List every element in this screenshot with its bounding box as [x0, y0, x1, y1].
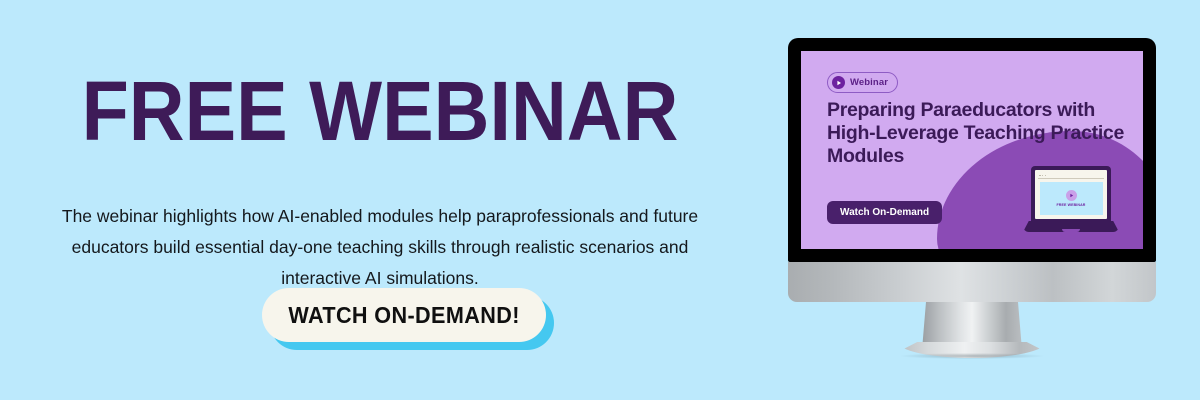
monitor-bezel: Webinar Preparing Paraeducators with Hig… [788, 38, 1156, 262]
page-title: FREE WEBINAR [30, 68, 729, 154]
watch-on-demand-button[interactable]: WATCH ON-DEMAND! [262, 288, 546, 342]
cta-container: WATCH ON-DEMAND! [262, 288, 554, 350]
play-circle-icon [832, 76, 845, 89]
desktop-monitor-illustration: Webinar Preparing Paraeducators with Hig… [788, 38, 1156, 358]
monitor-screen: Webinar Preparing Paraeducators with Hig… [801, 51, 1143, 249]
monitor-stand-shadow [900, 353, 1044, 359]
browser-dot-icon [1042, 175, 1044, 177]
promo-description: The webinar highlights how AI-enabled mo… [60, 201, 700, 294]
screen-watch-on-demand-label: Watch On-Demand [840, 207, 929, 218]
watch-on-demand-button-label: WATCH ON-DEMAND! [288, 302, 519, 329]
play-icon [1066, 190, 1077, 201]
browser-dot-icon [1045, 175, 1047, 177]
monitor-chin [788, 262, 1156, 302]
browser-window: FREE WEBINAR [1035, 170, 1107, 219]
laptop-illustration: FREE WEBINAR [1023, 166, 1119, 244]
laptop-trackpad-notch [1062, 229, 1080, 232]
browser-title-bar [1038, 173, 1104, 179]
promo-text-column: FREE WEBINAR The webinar highlights how … [0, 0, 760, 400]
webinar-title: Preparing Paraeducators with High-Levera… [827, 99, 1127, 168]
webinar-badge: Webinar [827, 72, 898, 93]
video-caption: FREE WEBINAR [1057, 203, 1086, 207]
webinar-badge-label: Webinar [850, 77, 888, 88]
promo-banner: FREE WEBINAR The webinar highlights how … [0, 0, 1200, 400]
laptop-lid: FREE WEBINAR [1031, 166, 1111, 223]
browser-dot-icon [1039, 175, 1041, 177]
video-player-thumbnail[interactable]: FREE WEBINAR [1040, 182, 1103, 215]
screen-watch-on-demand-button[interactable]: Watch On-Demand [827, 201, 942, 224]
